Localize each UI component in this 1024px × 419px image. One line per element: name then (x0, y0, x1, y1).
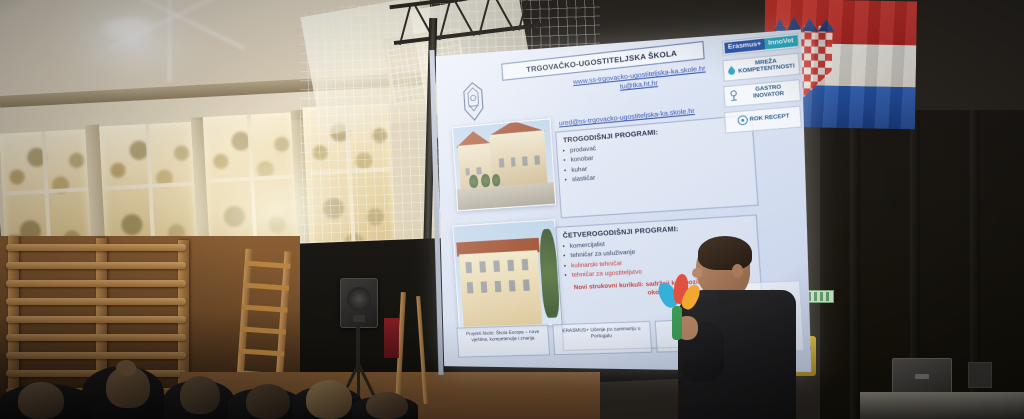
photo-window (476, 167, 481, 175)
rok-label: ROK RECEPT (750, 114, 790, 124)
photo-window (509, 280, 516, 291)
photo-window (534, 156, 539, 165)
red-banner (384, 318, 399, 358)
presenter (672, 238, 800, 419)
speaker-cone (347, 287, 371, 311)
audience-head (18, 382, 64, 419)
laptop-badge (915, 374, 929, 379)
photo-window (523, 279, 530, 291)
ceiling-light (95, 12, 159, 42)
audience-head (306, 380, 352, 419)
presentation-photo-scene: TRGOVAČKO-UGOSTITELJSKA ŠKOLA www.ss-trg… (0, 0, 1024, 419)
photo-window (481, 281, 488, 292)
photo-window (465, 168, 470, 176)
photo-window (511, 158, 516, 167)
location-pin-icon (735, 114, 750, 128)
school-crest-icon (459, 81, 487, 124)
audience-head (246, 384, 290, 419)
photo-tree (481, 173, 490, 187)
equipment-table (860, 392, 1024, 419)
chef-utensil-icon (727, 89, 741, 103)
mreza-label: MREŽA KOMPETENTNOSTI (736, 58, 796, 76)
photo-window (493, 260, 500, 271)
truss-brace (454, 0, 475, 36)
photo-window (522, 259, 529, 271)
wall-plate (968, 362, 992, 388)
photo-window (467, 282, 474, 293)
slide-logos: Erasmus+ InnoVet MREŽA KOMPETENTNOSTI GA… (722, 34, 802, 137)
photo-window (479, 261, 486, 272)
photo-window (522, 157, 527, 166)
gastro-label: GASTRO INOVATOR (740, 84, 797, 102)
erasmus-plus-logo: Erasmus+ (724, 39, 765, 54)
photo-window (499, 159, 504, 168)
exit-sign (806, 290, 834, 303)
curtain-fold (850, 110, 860, 419)
photo-tree (492, 174, 500, 186)
photo-window (495, 281, 502, 292)
project-box-skola-europe: Projekti škole: Škola Europe – nove vješ… (456, 324, 550, 357)
mreza-kompetentnosti-logo: MREŽA KOMPETENTNOSTI (722, 53, 800, 82)
photo-window (507, 260, 514, 272)
speaker-tweeter (353, 315, 365, 322)
photo-window (465, 262, 472, 273)
prop-stem (672, 306, 682, 340)
laptop (892, 358, 952, 396)
audience-hair-bun (116, 360, 136, 376)
audience-head (366, 392, 408, 419)
innovet-logo: InnoVet (764, 35, 797, 49)
school-building-photo-2 (452, 219, 562, 328)
presenter-ear (732, 264, 743, 278)
project-box-erasmus-portugal: ERASMUS+ Učenje po zanimanju u Portugalu (553, 321, 652, 355)
pa-speaker (340, 278, 378, 328)
erasmus-innovet-logo-row: Erasmus+ InnoVet (722, 33, 800, 56)
exit-sign-graphic (808, 292, 832, 301)
presenter-prop (658, 272, 704, 346)
presenter-hair (698, 236, 752, 270)
rok-recept-logo: ROK RECEPT (724, 106, 802, 134)
audience-head (180, 376, 220, 414)
school-building-photo-1 (452, 118, 556, 211)
gastro-inovator-logo: GASTRO INOVATOR (723, 79, 801, 108)
